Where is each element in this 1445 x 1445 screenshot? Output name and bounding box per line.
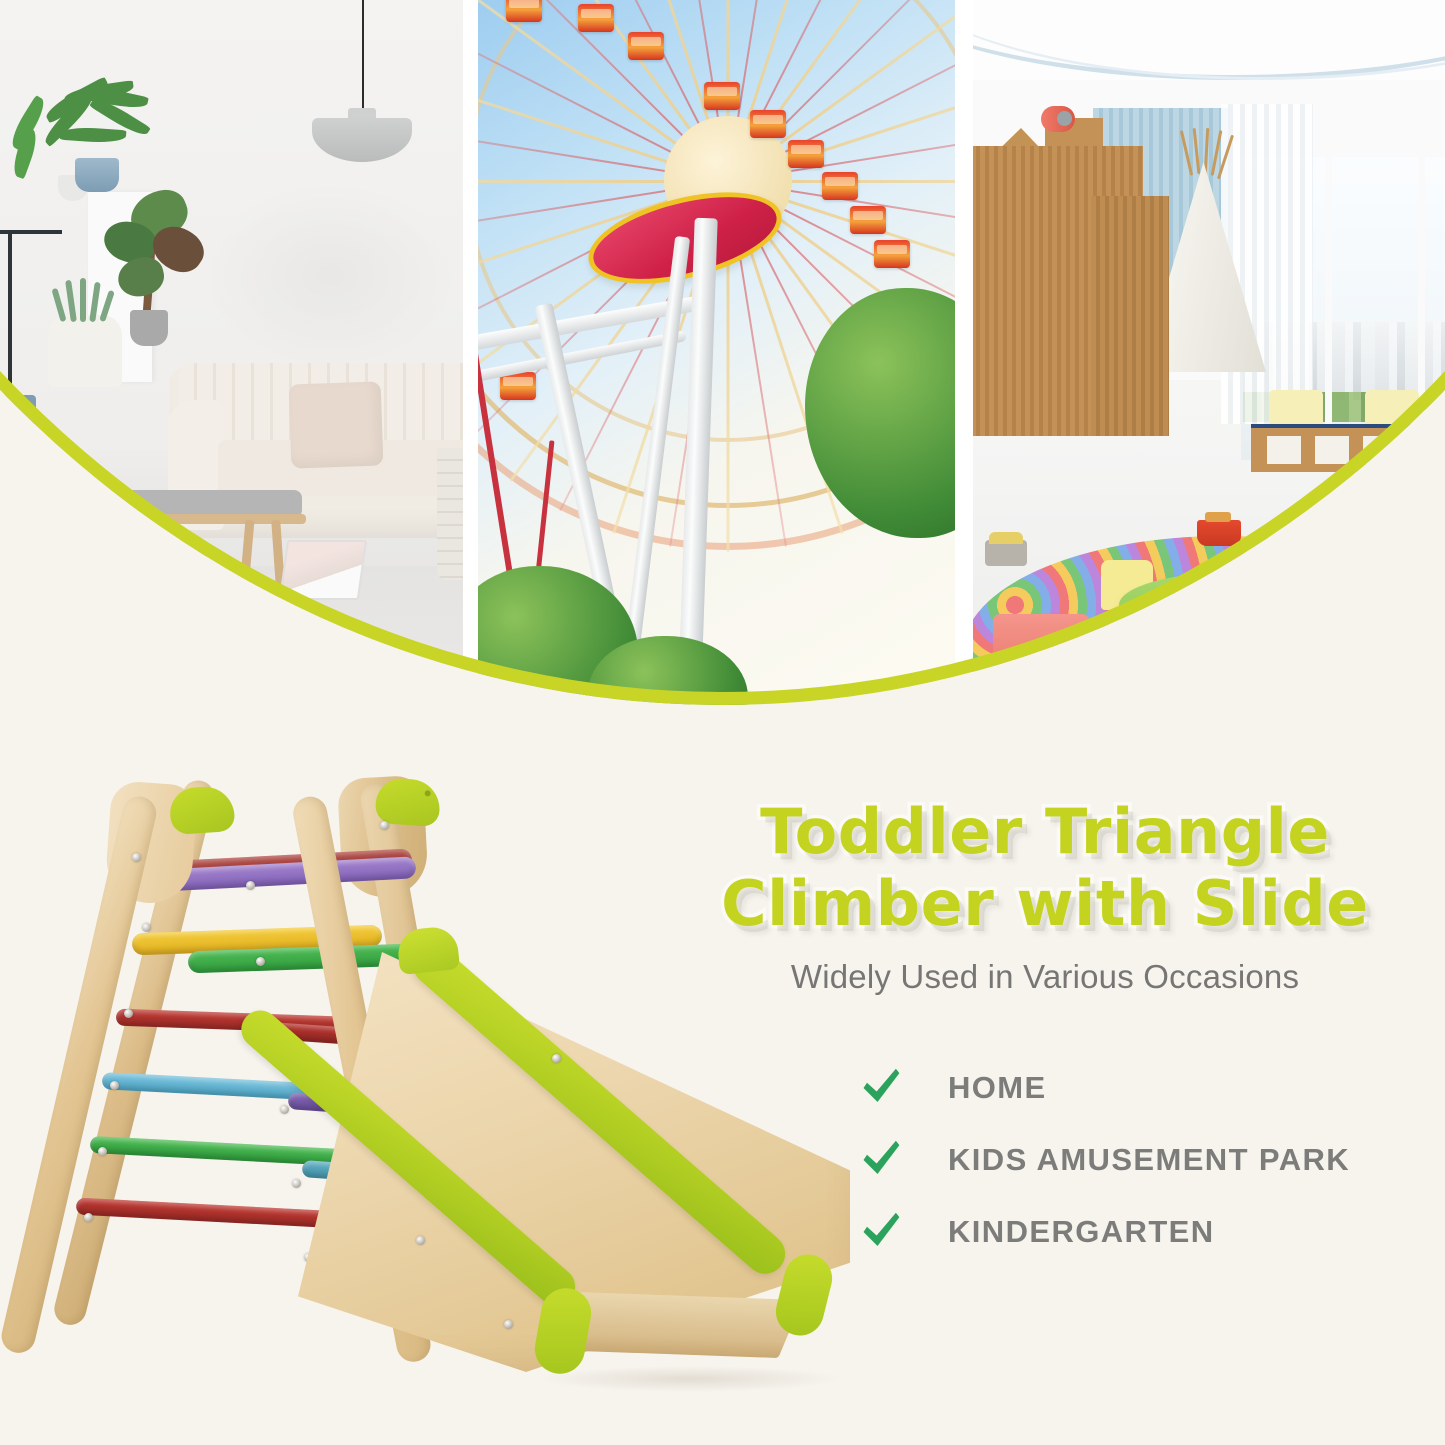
throw-blanket [437,448,463,580]
screw [110,1081,119,1090]
screw [84,1213,93,1222]
accent-chair [48,315,122,387]
check-icon [860,1067,902,1109]
check-icon [860,1139,902,1181]
kids-chair [1317,576,1367,628]
bench-frame [36,514,306,524]
wheel-cabin [750,110,786,138]
floor-planter [2,395,36,431]
list-item-label: KINDERGARTEN [948,1214,1215,1250]
kids-chair [1373,620,1421,670]
list-item: KIDS AMUSEMENT PARK [860,1124,1390,1196]
occasion-photo-strip [0,0,1445,716]
bench-stretcher [56,580,276,586]
check-icon [860,1211,902,1253]
screw [246,881,255,890]
headline-line-1: Toddler Triangle [700,796,1390,868]
wheel-cabin [578,4,614,32]
window-mullion [1325,150,1332,460]
product-section: Toddler Triangle Climber with Slide Wide… [0,716,1445,1445]
magazine-rack [279,540,367,600]
wheel-cabin [788,140,824,168]
wheel-cabin [850,206,886,234]
list-item-label: HOME [948,1070,1047,1106]
curtain [1221,104,1313,424]
screw [98,1147,107,1156]
storage-cubby [1409,434,1445,466]
wheel-cabin [874,240,910,268]
wall-shadow [200,180,460,370]
occasion-checklist: HOME KIDS AMUSEMENT PARK [700,1052,1390,1268]
storage-cubby [1313,434,1351,466]
screw [132,853,141,862]
screw [380,821,389,830]
list-item-label: KIDS AMUSEMENT PARK [948,1142,1350,1178]
storage-basket [140,540,206,584]
succulent-plant [52,278,124,322]
foam-stool [1173,656,1265,716]
pendant-lamp-cord [362,0,364,120]
product-banner: Toddler Triangle Climber with Slide Wide… [0,0,1445,1445]
list-item: KINDERGARTEN [860,1196,1390,1268]
storage-cubby [1265,434,1303,466]
screw [416,1236,425,1245]
storage-cubby [1361,434,1399,466]
screw [504,1320,513,1329]
slide-shadow [540,1366,840,1392]
page-title: Toddler Triangle Climber with Slide [700,796,1390,940]
kids-chair [1365,538,1411,586]
photo-kindergarten [973,0,1445,716]
window-mullion [1418,150,1425,460]
shelf-rail-side [8,230,12,420]
wooden-playhouse [1091,196,1169,436]
wheel-cabin [822,172,858,200]
small-stool [985,540,1027,566]
photo-ferris-wheel [478,0,955,716]
blue-planter [75,158,119,192]
marketing-copy: Toddler Triangle Climber with Slide Wide… [700,796,1390,1268]
headline-line-2: Climber with Slide [700,868,1390,940]
wheel-cabin [704,82,740,110]
list-item: HOME [860,1052,1390,1124]
toy-boat [1197,520,1241,546]
screw [552,1054,561,1063]
wall-spotlight [1041,106,1075,132]
screw [142,923,151,932]
wheel-cabin [506,0,542,22]
throw-pillow [289,381,384,468]
gray-planter [130,310,168,346]
subtitle: Widely Used in Various Occasions [700,958,1390,996]
table-leg [1291,628,1317,676]
photo-living-room [0,0,463,716]
wheel-cabin [628,32,664,60]
safety-tab-back [374,777,441,827]
foam-stool [993,614,1089,686]
screw [124,1009,133,1018]
storage-basket [62,530,134,582]
